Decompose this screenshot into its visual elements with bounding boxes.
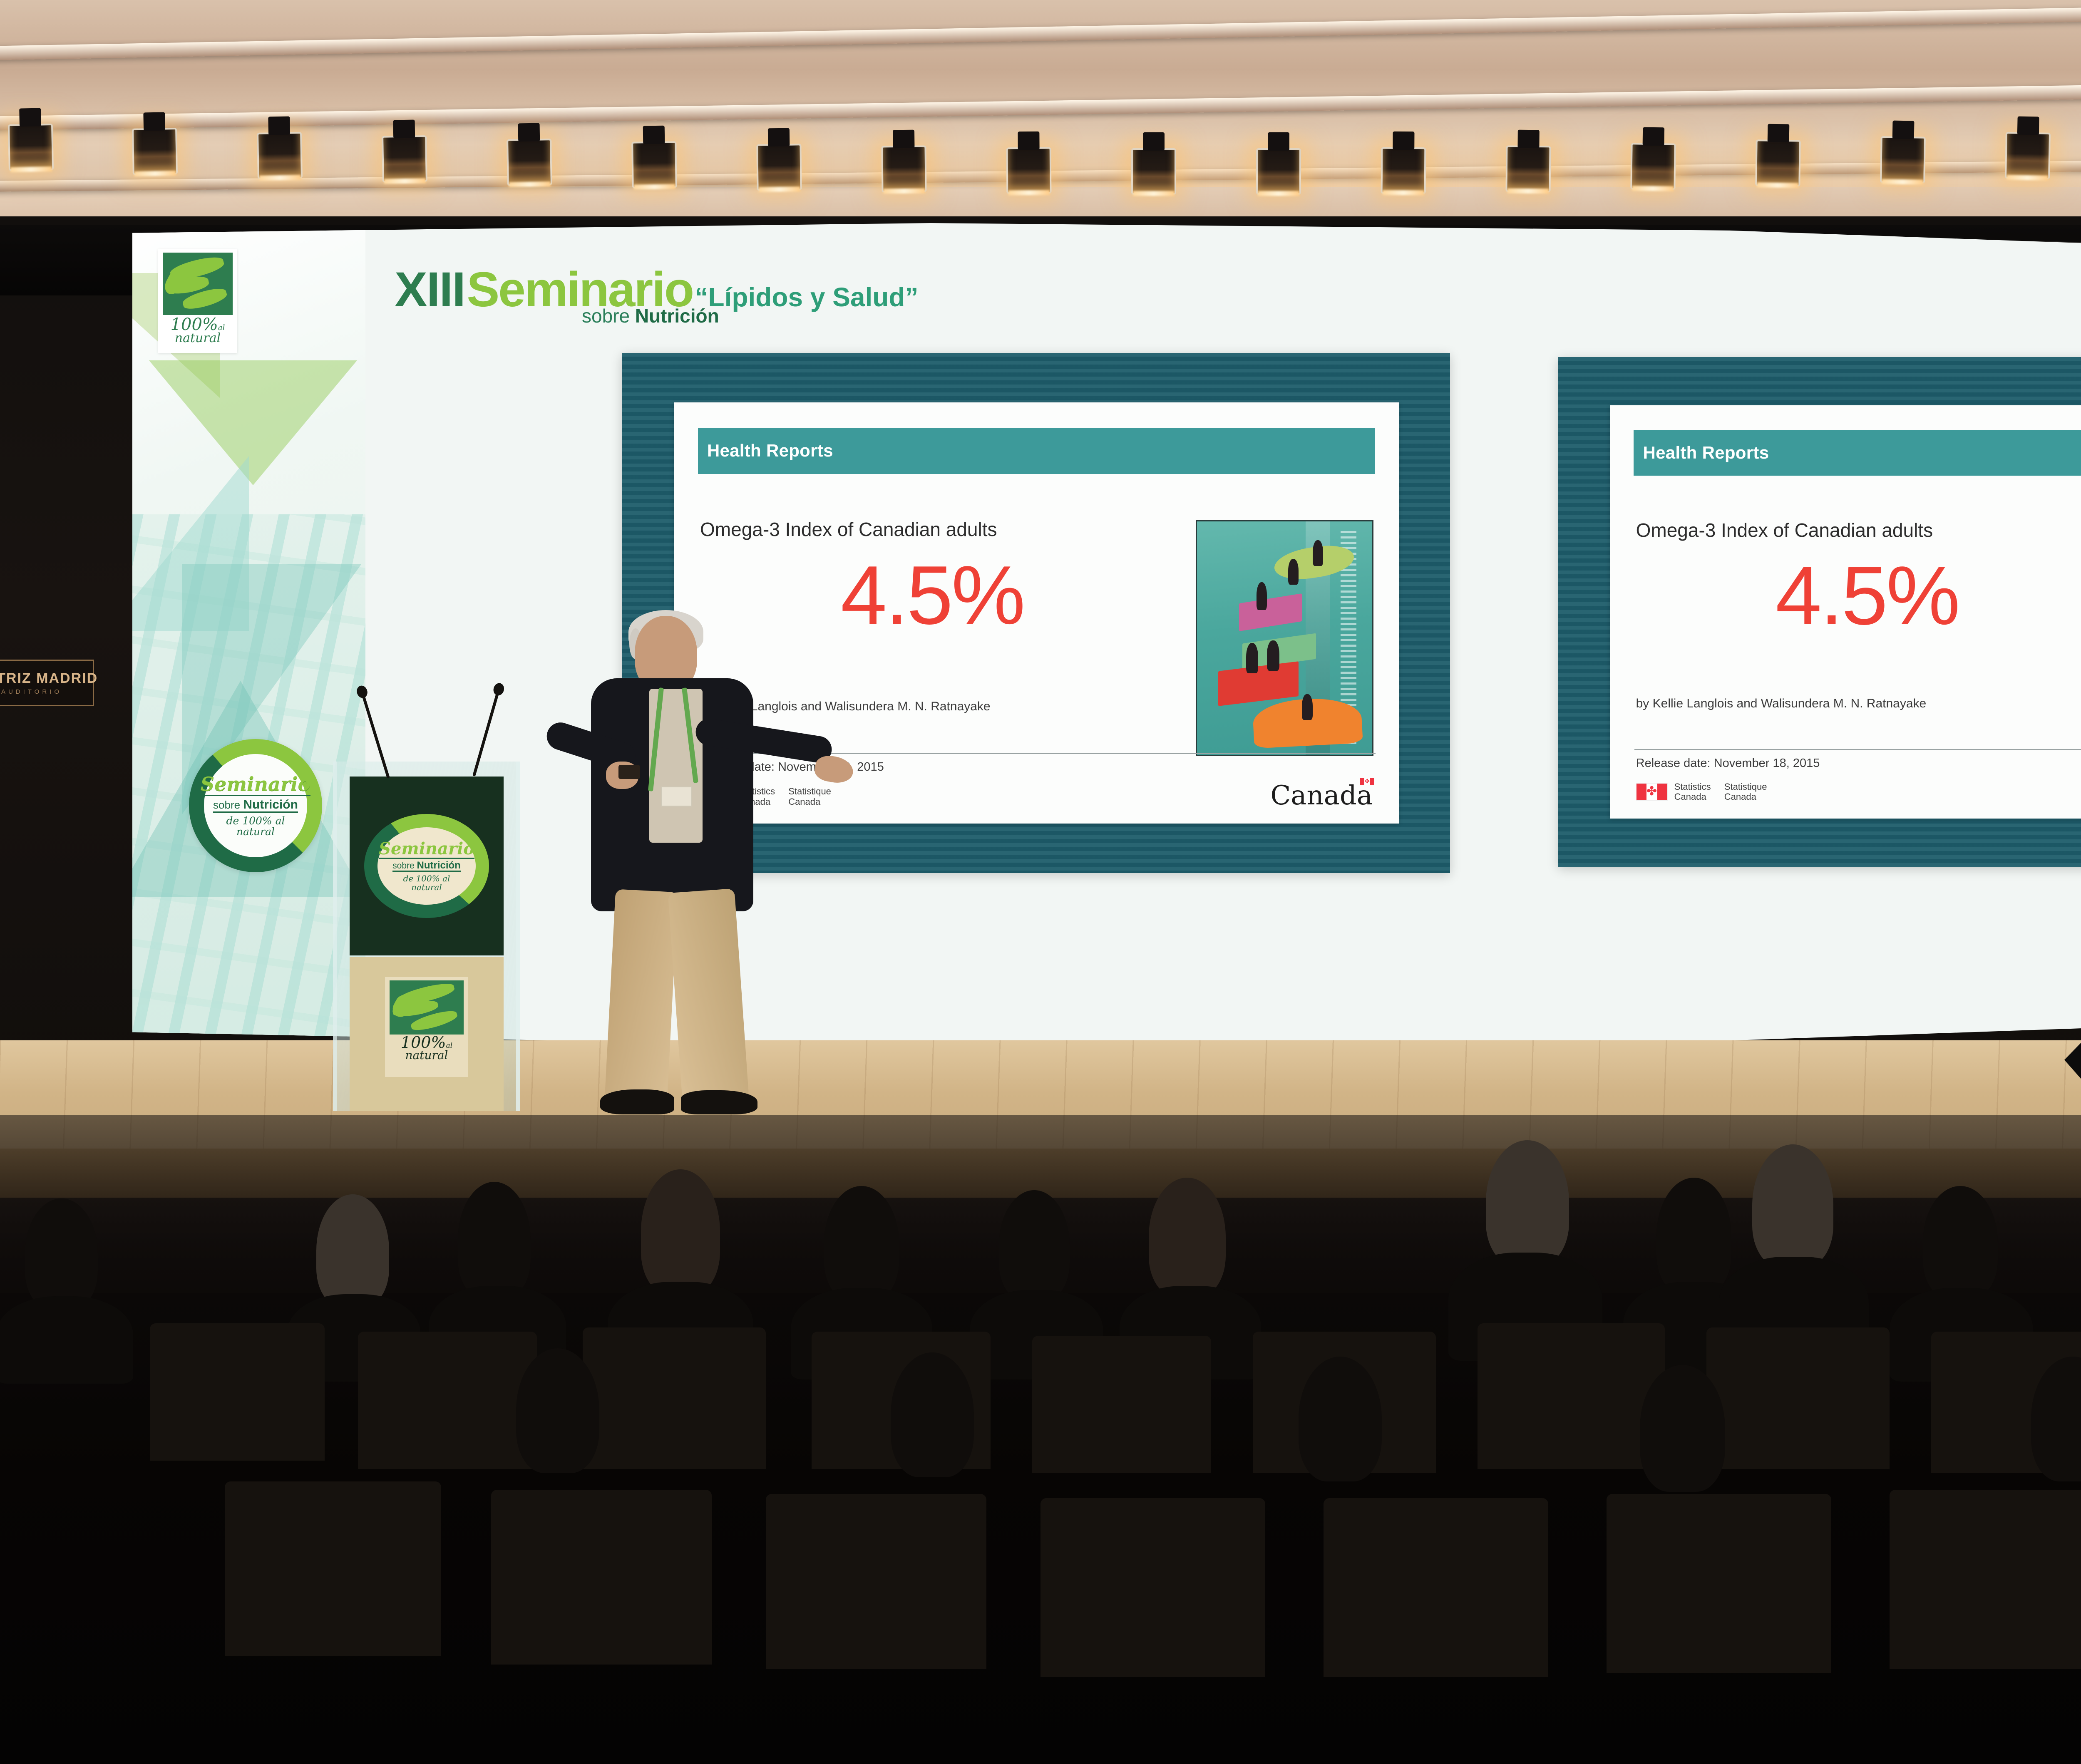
canada-flag-icon	[1360, 778, 1374, 785]
seal-line-2: sobre Nutrición	[392, 861, 461, 872]
ceiling-trim-band	[0, 76, 2081, 131]
auditorium-scene: BEATRIZ MADRID AUDITORIO EL BEATRIZ MADR…	[0, 0, 2081, 1764]
slide-release-date: Release date: November 18, 2015	[1636, 757, 1820, 770]
presentation-clicker	[618, 765, 640, 779]
stage-light-fixture	[1506, 146, 1551, 193]
presenter-right-shoe	[681, 1090, 757, 1114]
audience-seat	[1040, 1498, 1265, 1677]
audience-member	[516, 1348, 599, 1473]
slide-key-value: 4.5%	[841, 554, 1024, 637]
leaf-logo-icon	[163, 253, 233, 315]
audience-seat	[225, 1481, 441, 1656]
audience-seat	[583, 1327, 766, 1469]
stage-light-fixture	[382, 135, 427, 183]
seal-line-3: de 100% alnatural	[403, 874, 450, 891]
stage-light-fixture	[756, 144, 802, 191]
brand-logo-box: 100%al natural	[158, 249, 237, 353]
audience-member	[891, 1352, 974, 1477]
leaf-logo-icon	[390, 980, 464, 1035]
audience-member	[458, 1182, 531, 1298]
stage-light-fixture	[631, 141, 677, 188]
seal-line-3: de 100% alnatural	[226, 816, 285, 838]
lectern: Seminario sobre Nutrición de 100% alnatu…	[333, 762, 520, 1111]
audience-member	[824, 1186, 899, 1300]
stage-light-fixture	[1131, 148, 1176, 195]
abstract-platforms-illustration-icon	[1196, 520, 1373, 756]
audience-seat	[150, 1323, 325, 1461]
slide-header-label: Health Reports	[1643, 443, 1769, 463]
slide-header-label: Health Reports	[707, 441, 833, 461]
canada-flag-icon	[1636, 783, 1668, 801]
venue-sign-left: BEATRIZ MADRID AUDITORIO	[0, 660, 94, 706]
slide-title: Omega-3 Index of Canadian adults	[1636, 519, 1933, 541]
lectern-lower-graphic: 100%al natural	[350, 957, 504, 1111]
ceiling-trim-band	[0, 0, 2081, 62]
audience-member	[999, 1190, 1070, 1300]
audience-member	[316, 1194, 389, 1307]
audience-member	[25, 1198, 98, 1309]
audience-seat	[358, 1332, 537, 1469]
audience-seating	[0, 1115, 2081, 1764]
stage-light-fixture	[1256, 148, 1301, 195]
seminar-subtitle: sobre Nutrición	[582, 305, 719, 327]
seminar-theme: “Lípidos y Salud”	[695, 282, 919, 312]
audience-seat	[491, 1490, 712, 1665]
seal-line-1: Seminario	[201, 774, 310, 796]
stage-light-fixture	[1006, 147, 1052, 194]
auditorium-ceiling	[0, 0, 2081, 233]
presenter-badge	[661, 786, 692, 806]
audience-member	[0, 1296, 133, 1384]
audience-seat	[1324, 1498, 1548, 1677]
audience-seat	[1890, 1490, 2081, 1669]
presenter-figure	[529, 599, 812, 1124]
audience-member	[1752, 1144, 1833, 1267]
audience-member	[641, 1169, 720, 1294]
presenter-right-leg	[668, 888, 749, 1101]
audience-member	[1640, 1365, 1725, 1492]
stage-light-fixture	[1755, 139, 1801, 186]
canada-wordmark: Canada	[1270, 780, 1373, 811]
stage-light-fixture	[2005, 132, 2051, 179]
slide-authors: by Kellie Langlois and Walisundera M. N.…	[1636, 697, 1927, 711]
slide-panel-right: Health Reports Omega-3 Index of Canadian…	[1558, 357, 2081, 867]
slide-header-bar: Health Reports	[698, 428, 1375, 474]
stage-light-fixture	[1381, 147, 1426, 194]
seminar-seal-logo: Seminario sobre Nutrición de 100% alnatu…	[364, 814, 489, 918]
seal-line-1: Seminario	[379, 841, 474, 859]
statistics-canada-logo: StatisticsCanada StatistiqueCanada	[1636, 782, 1778, 802]
seminar-seal-logo: Seminario sobre Nutrición de 100% alnatu…	[189, 739, 322, 872]
slide-title: Omega-3 Index of Canadian adults	[700, 518, 997, 541]
venue-subtitle: AUDITORIO	[1, 688, 62, 695]
presenter-left-leg	[605, 889, 678, 1100]
stage-light-fixture	[132, 128, 178, 175]
audience-seat	[1032, 1336, 1211, 1473]
slide-key-value: 4.5%	[1776, 554, 1959, 638]
stage-light-fixture	[881, 145, 926, 192]
venue-name: BEATRIZ MADRID	[0, 670, 98, 687]
audience-member	[1299, 1357, 1382, 1481]
seminar-numeral: XIII	[395, 262, 465, 317]
audience-member	[1923, 1186, 1998, 1298]
audience-seat	[1478, 1323, 1665, 1469]
stage-light-fixture	[1630, 143, 1676, 190]
brand-logo-caption: 100%al natural	[171, 317, 225, 345]
audience-member	[1149, 1178, 1226, 1296]
brand-natural: natural	[171, 332, 225, 345]
audience-seat	[1706, 1327, 1890, 1469]
slide-header-bar: Health Reports	[1634, 430, 2081, 476]
brand-logo-caption: 100%al natural	[401, 1035, 452, 1061]
stage-light-fixture	[8, 124, 54, 171]
slide-divider	[1634, 749, 2081, 750]
presenter-left-shoe	[600, 1089, 674, 1114]
audience-member	[1656, 1178, 1731, 1294]
stage-light-fixture	[257, 132, 303, 179]
lectern-upper-graphic: Seminario sobre Nutrición de 100% alnatu…	[350, 777, 504, 955]
audience-member	[1486, 1140, 1569, 1265]
presentation-slide: Health Reports Omega-3 Index of Canadian…	[1610, 405, 2081, 818]
audience-seat	[1607, 1494, 1831, 1673]
seal-line-2: sobre Nutrición	[213, 798, 298, 813]
stage-light-fixture	[1880, 136, 1926, 184]
stage-light-fixture	[507, 139, 552, 186]
screen-left-banner: 100%al natural Seminario sobre Nutrición…	[132, 223, 365, 1047]
statcan-wordmark-text: StatisticsCanada StatistiqueCanada	[1674, 782, 1778, 802]
audience-seat	[766, 1494, 986, 1669]
brand-logo-box: 100%al natural	[385, 977, 468, 1077]
